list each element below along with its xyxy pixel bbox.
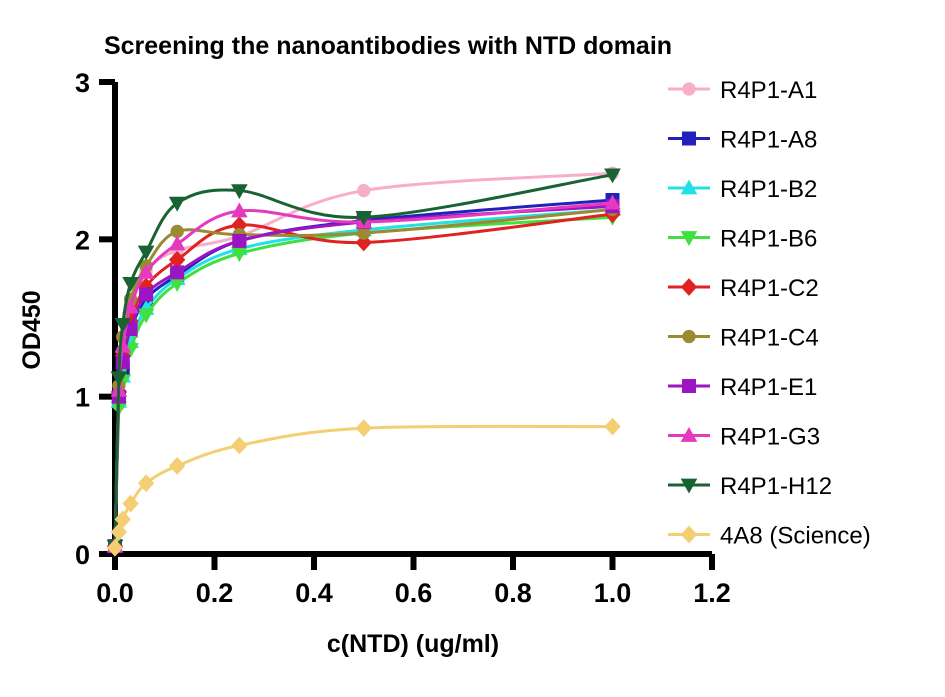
- y-tick-label: 3: [75, 68, 90, 98]
- x-tick-label: 0.6: [395, 578, 433, 608]
- legend-label: R4P1-B6: [720, 226, 817, 253]
- y-tick-label: 0: [75, 540, 90, 570]
- data-point-square: [683, 132, 696, 145]
- data-point-square: [171, 266, 184, 279]
- y-tick-label: 1: [75, 383, 90, 413]
- x-tick-label: 1.2: [693, 578, 731, 608]
- legend-label: R4P1-A8: [720, 127, 817, 154]
- y-tick-label: 2: [75, 225, 90, 255]
- chart-figure: Screening the nanoantibodies with NTD do…: [0, 0, 945, 697]
- legend-label: R4P1-C4: [720, 325, 819, 352]
- legend-label: R4P1-A1: [720, 77, 817, 104]
- legend-label: R4P1-G3: [720, 424, 820, 451]
- data-point-square: [233, 234, 246, 247]
- data-point-square: [140, 288, 153, 301]
- x-axis-label: c(NTD) (ug/ml): [327, 630, 499, 658]
- x-tick-label: 0.4: [295, 578, 333, 608]
- data-point-circle: [683, 83, 695, 95]
- x-tick-label: 1.0: [594, 578, 632, 608]
- legend-label: R4P1-H12: [720, 473, 832, 500]
- data-point-square: [683, 380, 696, 393]
- legend-label: R4P1-B2: [720, 176, 817, 203]
- data-point-circle: [358, 184, 370, 196]
- legend-label: R4P1-C2: [720, 275, 819, 302]
- x-tick-label: 0.8: [494, 578, 532, 608]
- x-tick-label: 0.2: [196, 578, 234, 608]
- y-axis-label: OD450: [18, 290, 46, 369]
- legend-label: R4P1-E1: [720, 374, 817, 401]
- x-tick-label: 0.0: [96, 578, 134, 608]
- data-point-circle: [683, 330, 695, 342]
- chart-title: Screening the nanoantibodies with NTD do…: [104, 32, 672, 60]
- legend-label: 4A8 (Science): [720, 523, 871, 550]
